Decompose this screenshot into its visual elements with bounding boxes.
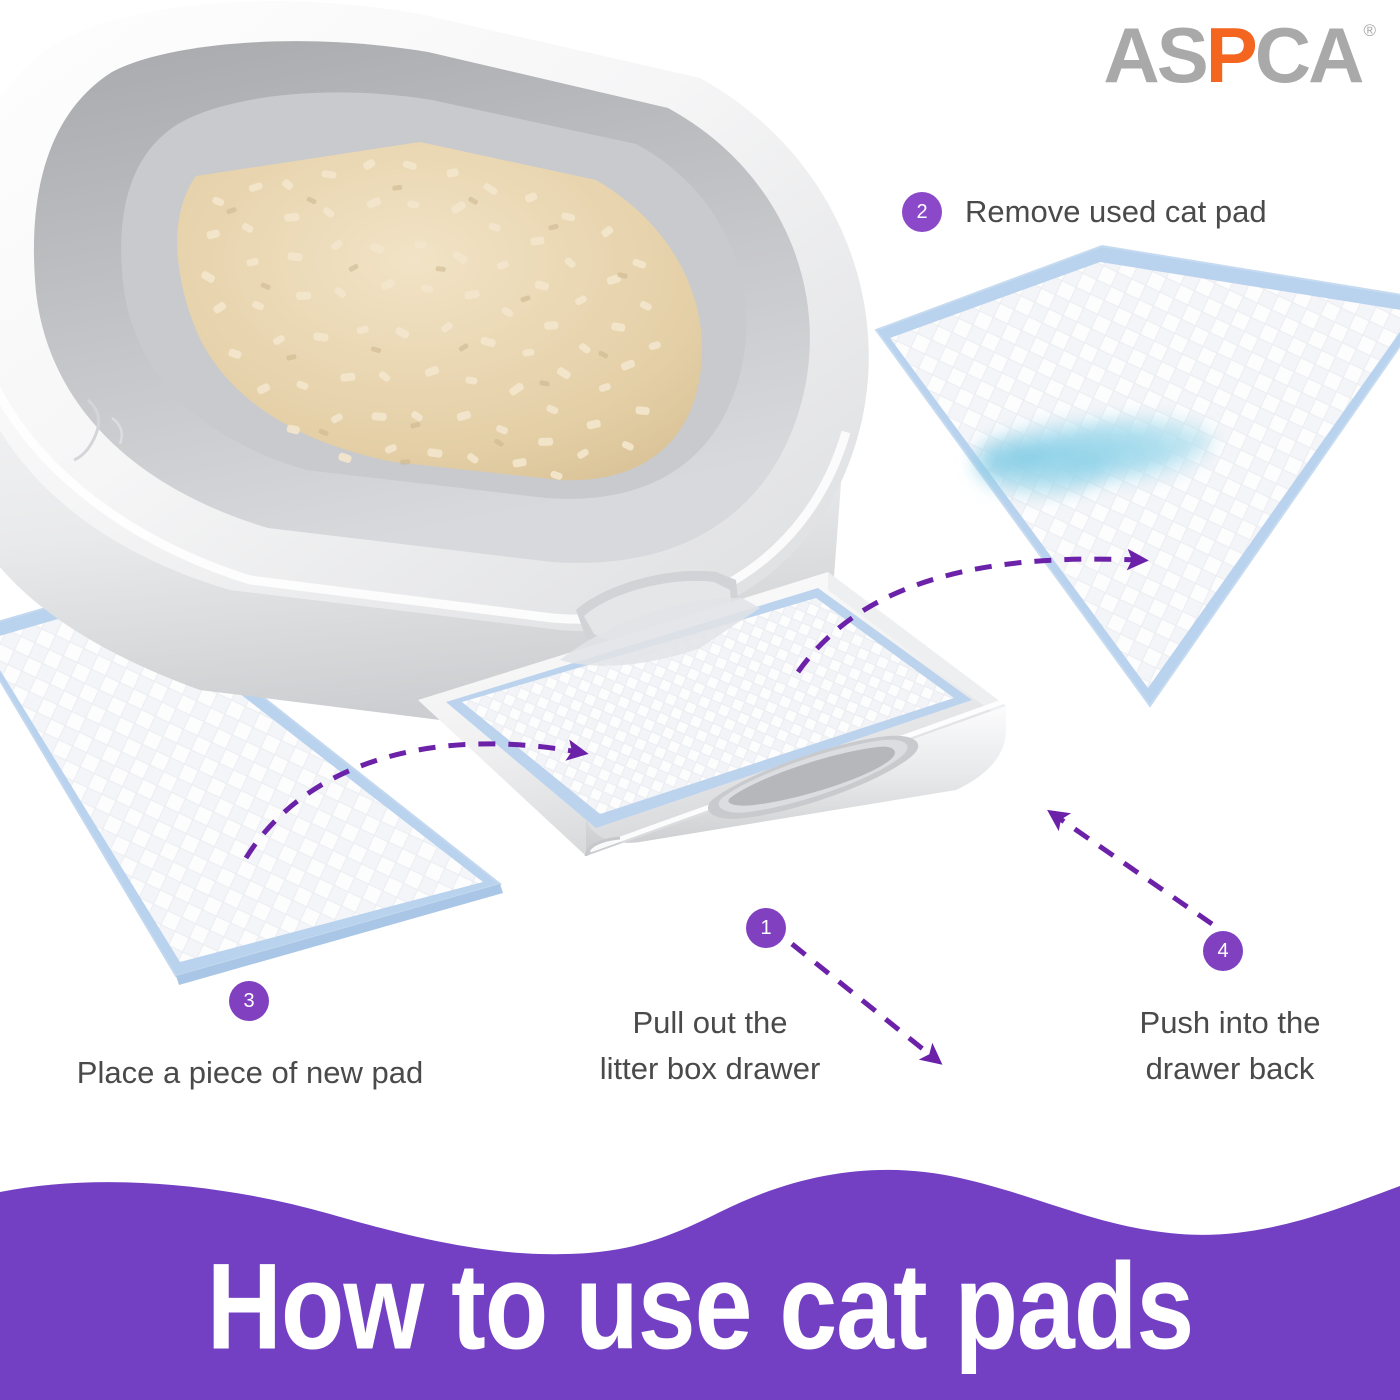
logo-text-ca: CA	[1255, 16, 1362, 94]
aspca-logo: ASPCA®	[1103, 16, 1376, 94]
step-badge-4: 4	[1203, 931, 1243, 971]
logo-text-as: AS	[1103, 16, 1205, 94]
step-badge-4-number: 4	[1217, 941, 1228, 961]
logo-text-p: P	[1206, 16, 1255, 94]
step-badge-2-number: 2	[916, 202, 927, 222]
step-caption-1: Pull out the litter box drawer	[560, 1000, 860, 1092]
arrow-push-drawer-back	[1056, 816, 1212, 924]
step-badge-1-number: 1	[760, 918, 771, 938]
bottom-banner: How to use cat pads	[0, 1150, 1400, 1400]
infographic-canvas: ASPCA® 1 2 3 4 Pull out the litter box d…	[0, 0, 1400, 1400]
step-badge-3: 3	[229, 981, 269, 1021]
step-badge-3-number: 3	[243, 991, 254, 1011]
step-caption-4: Push into the drawer back	[1095, 1000, 1365, 1092]
step-caption-2: Remove used cat pad	[965, 189, 1385, 235]
step-pointer-arrows	[0, 0, 1400, 1160]
banner-title: How to use cat pads	[0, 1242, 1400, 1372]
step-badge-2: 2	[902, 192, 942, 232]
step-badge-1: 1	[746, 908, 786, 948]
step-caption-3: Place a piece of new pad	[45, 1050, 455, 1096]
registered-trademark-icon: ®	[1363, 22, 1376, 39]
